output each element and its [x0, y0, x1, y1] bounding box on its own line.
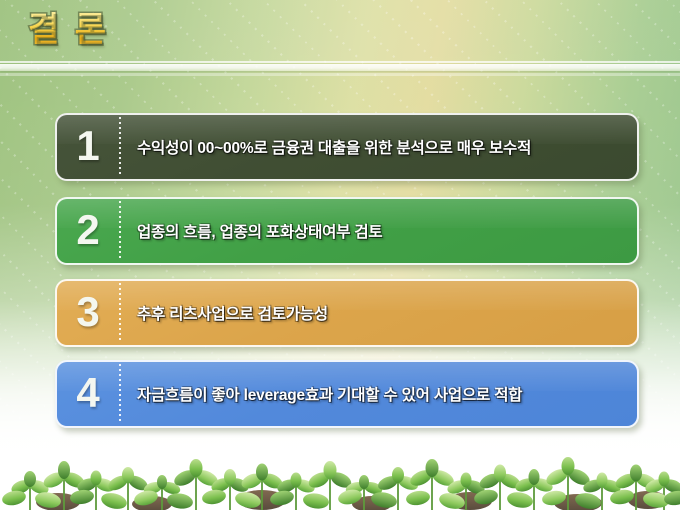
list-item-number: 2	[57, 209, 119, 253]
list-item[interactable]: 3 추후 리츠사업으로 검토가능성	[55, 279, 639, 347]
foliage-decoration	[0, 450, 680, 510]
list-item-label: 자금흐름이 좋아 leverage효과 기대할 수 있어 사업으로 적합	[121, 383, 637, 405]
list-item-label: 업종의 흐름, 업종의 포화상태여부 검토	[121, 220, 637, 242]
presentation-slide: 결 론 결 론 1 수익성이 00~00%로 금융권 대출을 위한 분석으로 매…	[0, 0, 680, 510]
list-item-label: 추후 리츠사업으로 검토가능성	[121, 302, 637, 324]
list-item-number: 1	[57, 125, 119, 169]
conclusion-list: 1 수익성이 00~00%로 금융권 대출을 위한 분석으로 매우 보수적 2 …	[0, 0, 680, 510]
list-item-number: 3	[57, 291, 119, 335]
list-item-label: 수익성이 00~00%로 금융권 대출을 위한 분석으로 매우 보수적	[121, 136, 637, 158]
list-item[interactable]: 1 수익성이 00~00%로 금융권 대출을 위한 분석으로 매우 보수적	[55, 113, 639, 181]
list-item[interactable]: 2 업종의 흐름, 업종의 포화상태여부 검토	[55, 197, 639, 265]
list-item-number: 4	[57, 372, 119, 416]
sprout-leaves-icon	[0, 450, 680, 510]
list-item[interactable]: 4 자금흐름이 좋아 leverage효과 기대할 수 있어 사업으로 적합	[55, 360, 639, 428]
